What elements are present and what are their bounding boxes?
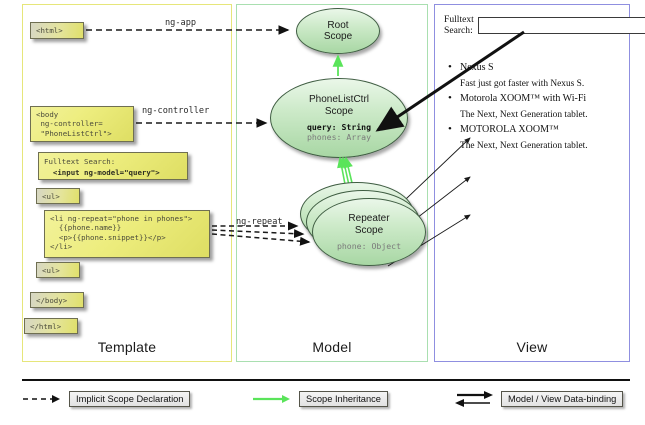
phone-name: MOTOROLA XOOM™	[444, 124, 622, 135]
repeater-scope-label: Repeater Scope	[348, 213, 389, 236]
repeater-props: phone: Object	[337, 241, 401, 251]
panel-label-view: View	[435, 339, 629, 355]
ng-app-label: ng-app	[165, 18, 196, 28]
view-content: Fulltext Search: Nexus S Fast just got f…	[444, 14, 622, 155]
repeater-phone-prop: phone: Object	[337, 241, 401, 251]
root-scope-line2: Scope	[324, 31, 352, 42]
phonelistctrl-line2: Scope	[325, 106, 353, 117]
phonelistctrl-props: query: String phones: Array	[307, 122, 371, 142]
phonelistctrl-scope-label: PhoneListCtrl Scope	[309, 94, 369, 117]
li-ngrepeat-box: <li ng-repeat="phone in phones"> {{phone…	[44, 210, 210, 258]
fulltext-search-input-code: <input ng-model="query">	[44, 168, 160, 177]
dashed-arrow-icon	[22, 393, 62, 405]
legend-item-implicit-scope-declaration: Implicit Scope Declaration	[22, 391, 190, 407]
double-arrow-icon	[454, 391, 494, 407]
green-arrow-icon	[252, 393, 292, 405]
legend: Implicit Scope Declaration Scope Inherit…	[22, 379, 630, 421]
ng-controller-label: ng-controller	[142, 106, 209, 116]
panel-label-model: Model	[237, 339, 427, 355]
phone-snippet: The Next, Next Generation tablet.	[444, 141, 622, 151]
legend-label: Model / View Data-binding	[501, 391, 623, 407]
repeater-line2: Scope	[355, 225, 383, 236]
panel-template: Template	[22, 4, 232, 362]
root-scope-line1: Root	[327, 20, 348, 31]
phonelistctrl-phones-prop: phones: Array	[307, 132, 371, 142]
phonelistctrl-scope-ellipse: PhoneListCtrl Scope query: String phones…	[270, 78, 408, 158]
phone-name: Nexus S	[444, 62, 622, 73]
panel-label-template: Template	[23, 339, 231, 355]
list-item: Nexus S Fast just got faster with Nexus …	[444, 62, 622, 89]
phone-list: Nexus S Fast just got faster with Nexus …	[444, 62, 622, 151]
html-open-box: <html>	[30, 22, 84, 39]
body-controller-box: <body ng-controller= "PhoneListCtrl">	[30, 106, 134, 142]
panel-model: Model	[236, 4, 428, 362]
ul-close-box: <ul>	[36, 262, 80, 278]
phone-name: Motorola XOOM™ with Wi-Fi	[444, 93, 622, 104]
ng-repeat-label: ng-repeat	[236, 217, 283, 227]
phone-snippet: Fast just got faster with Nexus S.	[444, 79, 622, 89]
ul-open-box: <ul>	[36, 188, 80, 204]
legend-item-scope-inheritance: Scope Inheritance	[252, 391, 388, 407]
root-scope-label: Root Scope	[324, 20, 352, 43]
legend-label: Implicit Scope Declaration	[69, 391, 190, 407]
repeater-scope-ellipse: Repeater Scope phone: Object	[312, 198, 426, 266]
fulltext-search-box: Fulltext Search: <input ng-model="query"…	[38, 152, 188, 180]
phone-snippet: The Next, Next Generation tablet.	[444, 110, 622, 120]
phonelistctrl-line1: PhoneListCtrl	[309, 94, 369, 105]
legend-label: Scope Inheritance	[299, 391, 388, 407]
view-search-row: Fulltext Search:	[444, 14, 622, 36]
root-scope-ellipse: Root Scope	[296, 8, 380, 54]
view-search-label: Fulltext Search:	[444, 14, 474, 36]
html-close-box: </html>	[24, 318, 78, 334]
repeater-line1: Repeater	[348, 213, 389, 224]
phonelistctrl-query-prop: query: String	[307, 122, 371, 132]
angular-concepts-diagram: Template Model View <html> <body ng-cont…	[0, 0, 645, 425]
legend-divider	[22, 379, 630, 381]
fulltext-search-label: Fulltext Search:	[44, 157, 115, 166]
list-item: MOTOROLA XOOM™ The Next, Next Generation…	[444, 124, 622, 151]
search-input[interactable]	[478, 17, 645, 34]
legend-item-model-view-data-binding: Model / View Data-binding	[454, 391, 623, 407]
body-close-box: </body>	[30, 292, 84, 308]
list-item: Motorola XOOM™ with Wi-Fi The Next, Next…	[444, 93, 622, 120]
